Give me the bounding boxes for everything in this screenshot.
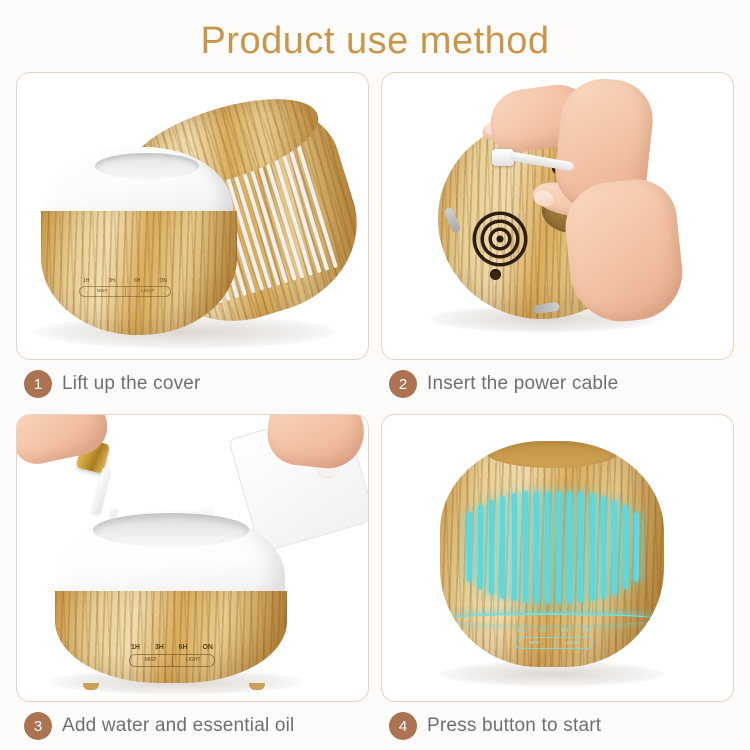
step-photo-3: 1H 3H 6H ON MIST LIGHT <box>16 414 369 702</box>
timer-label-on: ON <box>583 629 591 635</box>
step-text-2: Insert the power cable <box>427 373 618 395</box>
dropper-tube <box>91 467 111 516</box>
timer-label-on: ON <box>160 279 168 284</box>
led-ring <box>449 613 655 625</box>
steps-grid: 1H 3H 6H ON MIST LIGHT 1 Lift up the cov… <box>0 72 750 750</box>
timer-label-3h: 3H <box>539 629 546 635</box>
rubber-foot <box>490 269 501 280</box>
mist-button[interactable]: MIST <box>130 655 173 666</box>
step-caption-4: 4 Press button to start <box>381 702 734 750</box>
control-panel-1: 1H 3H 6H ON MIST LIGHT <box>79 279 171 297</box>
led-vent-slots <box>467 491 640 604</box>
step-caption-3: 3 Add water and essential oil <box>16 702 369 750</box>
step-caption-2: 2 Insert the power cable <box>381 360 734 408</box>
light-button[interactable]: LIGHT <box>126 287 171 296</box>
page-title: Product use method <box>0 0 750 72</box>
diffuser-top-cap <box>485 441 619 468</box>
mist-button[interactable]: MIST <box>516 638 555 648</box>
fan-vent-icon <box>472 211 528 267</box>
diffuser-base <box>55 591 287 683</box>
step-card-4: 1H 3H 6H ON MIST LIGHT 4 Press button to… <box>381 414 734 750</box>
timer-label-1h: 1H <box>131 644 140 651</box>
light-button[interactable]: LIGHT <box>555 638 593 648</box>
timer-label-3h: 3H <box>155 644 164 651</box>
grip-pad <box>443 206 461 233</box>
timer-label-1h: 1H <box>83 279 89 284</box>
step-text-4: Press button to start <box>427 715 601 737</box>
step-text-1: Lift up the cover <box>62 373 201 395</box>
timer-label-6h: 6H <box>134 279 140 284</box>
timer-label-on: ON <box>202 644 213 651</box>
step-photo-1: 1H 3H 6H ON MIST LIGHT <box>16 72 369 360</box>
step-text-3: Add water and essential oil <box>62 715 294 737</box>
tank-rim <box>93 513 249 547</box>
timer-label-6h: 6H <box>561 629 568 635</box>
timer-label-1h: 1H <box>517 629 524 635</box>
timer-label-6h: 6H <box>179 644 188 651</box>
control-panel-3: 1H 3H 6H ON MIST LIGHT <box>129 644 215 667</box>
grip-pad <box>533 302 560 315</box>
tank-rim <box>95 153 199 179</box>
step-card-1: 1H 3H 6H ON MIST LIGHT 1 Lift up the cov… <box>16 72 369 408</box>
step-card-3: 1H 3H 6H ON MIST LIGHT 3 Add water and e… <box>16 414 369 750</box>
step-photo-2 <box>381 72 734 360</box>
step-caption-1: 1 Lift up the cover <box>16 360 369 408</box>
step-badge-3: 3 <box>24 712 52 740</box>
step-card-2: 2 Insert the power cable <box>381 72 734 408</box>
step-badge-1: 1 <box>24 370 52 398</box>
control-panel-4: 1H 3H 6H ON MIST LIGHT <box>515 629 593 650</box>
step-badge-4: 4 <box>389 712 417 740</box>
light-button[interactable]: LIGHT <box>173 655 215 666</box>
step-badge-2: 2 <box>389 370 417 398</box>
timer-label-3h: 3H <box>109 279 115 284</box>
mist-button[interactable]: MIST <box>80 287 126 296</box>
step-photo-4: 1H 3H 6H ON MIST LIGHT <box>381 414 734 702</box>
